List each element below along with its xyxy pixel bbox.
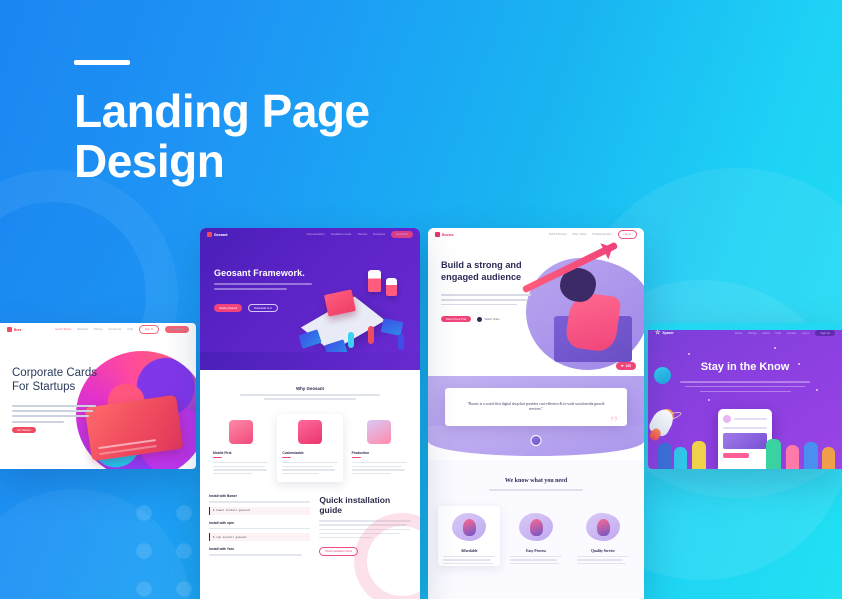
boosts-like-badge: ❤ 100 [616,362,636,370]
spacer-logo-label: Spacer [662,331,673,335]
text-line [209,501,310,502]
boosts-need-card-affordable[interactable]: Affordable [438,506,500,567]
quote-mark-open-icon: “ [454,390,462,409]
mockup-panel-brex[interactable]: Brex How It Works Rewards Pricing Contac… [0,323,196,469]
geosant-content-section: Why Geosant Mobile First [200,370,420,599]
boosts-need-card-easy-process[interactable]: Easy Process [505,506,567,567]
text-line [352,473,392,474]
text-line [443,556,495,557]
spacer-logo[interactable]: ☆ Spacer [655,330,674,336]
brex-signin-button[interactable]: Sign In [139,325,159,333]
brex-nav-item-2[interactable]: Pricing [94,328,102,331]
install-code-npm[interactable]: $ npm install geosant [209,533,310,541]
feature-rule [282,457,291,458]
boosts-needs-title: We know what you need [428,460,644,484]
text-line [213,466,265,467]
iso-person-c [398,334,404,350]
boosts-watch-video[interactable]: Watch Video [477,317,500,322]
geosant-headline: Geosant Framework. [214,268,334,278]
brex-nav-item-3[interactable]: Contact Us [108,328,121,331]
star-dot-icon [798,363,800,365]
person-figure [766,439,781,469]
brex-getstarted-button[interactable]: Get Started [165,326,189,332]
boosts-login-button[interactable]: Log In [618,230,637,238]
text-line [12,421,64,423]
text-line [282,469,335,470]
planet-icon [654,367,671,384]
person-figure [692,441,706,469]
boosts-hero: Boosts Tools & Pricing Who I Work Produc… [428,228,644,376]
boosts-body-copy [441,294,531,309]
geosant-nav-links: Documentation Installation Guide Themes … [307,231,413,237]
feature-title: Customizable [282,451,337,455]
star-dot-icon [688,353,690,355]
text-line [352,466,402,467]
text-line [12,410,93,412]
phone-header-row [723,415,767,423]
install-guide-title-line-1: Quick installation [319,495,390,505]
feature-rule [352,457,361,458]
text-line [443,559,491,560]
geosant-install-steps: Install with Bower $ bower install geosa… [209,494,310,559]
boosts-quote-text: "Boosts is a social-first digital shop t… [461,402,611,413]
boosts-needs-section: We know what you need Affordable Easy Pr… [428,460,644,599]
brex-headline-line-1: Corporate Cards [12,367,97,379]
text-line [282,473,319,474]
install-guide-title-line-2: guide [319,505,342,515]
text-line [214,283,312,285]
text-line [489,489,583,491]
spacer-headline: Stay in the Know [648,361,842,373]
spacer-nav-item-2[interactable]: About [762,332,769,335]
text-line [213,473,252,474]
rocket-icon [367,420,391,444]
text-line [12,415,89,417]
heart-icon: ❤ [621,364,624,368]
spacer-nav-links: Home Pricing About FAQ Contact Log in Si… [735,330,835,336]
mockup-panel-boosts[interactable]: Boosts Tools & Pricing Who I Work Produc… [428,228,644,599]
person-figure [658,443,672,469]
iso-person-a [348,332,354,348]
affordable-illustration-icon [452,513,486,541]
text-line [510,556,562,557]
spacer-nav-item-1[interactable]: Pricing [748,332,756,335]
feature-title: Mobile First [213,451,268,455]
boosts-watch-video-label: Watch Video [485,318,500,321]
boosts-cta-row: Start A Free Trial Watch Video [441,316,500,322]
brex-navbar: Brex How It Works Rewards Pricing Contac… [0,323,196,336]
text-line [577,559,623,560]
geosant-download-version-button[interactable]: Download v1.0 [248,304,278,312]
install-step-label: Install with npm [209,521,310,525]
spacer-signup-button[interactable]: Sign Up [815,330,835,336]
person-figure [804,442,818,469]
star-dot-icon [774,347,776,349]
install-step-note [209,554,310,555]
brex-nav-links: How It Works Rewards Pricing Contact Us … [55,325,189,333]
text-line [734,418,767,420]
spacer-nav-item-4[interactable]: Contact [787,332,796,335]
brex-logo-icon [7,327,12,332]
need-card-title: Easy Process [510,549,562,553]
text-line [12,405,96,407]
feature-rule [213,457,222,458]
star-dot-icon [816,389,818,391]
brex-headline-line-2: For Startups [12,381,75,393]
brex-body-copy [12,405,96,426]
page-title-line-1: Landing Page [74,85,370,137]
text-line [510,563,559,564]
text-line [700,391,791,393]
star-icon: ☆ [655,330,660,336]
boosts-need-card-quality-service[interactable]: Quality Service [572,506,634,567]
geosant-body-copy [214,283,312,293]
avatar [723,415,731,423]
iso-cylinder-b [386,278,397,296]
quote-mark-close-icon: ” [610,414,618,433]
geosant-hero: Geosant Documentation Installation Guide… [200,228,420,370]
feature-title: Production [352,451,407,455]
boosts-quote-card: “ "Boosts is a social-first digital shop… [445,388,627,426]
geosant-logo[interactable]: Geosant [207,232,228,237]
iso-person-b [368,326,374,344]
boosts-nav-item-1[interactable]: Who I Work [573,233,587,236]
brex-logo-label: Brex [14,328,22,332]
boosts-nav-item-2[interactable]: Product Service [593,233,612,236]
iso-cylinder-a [368,270,381,292]
geosant-nav-item-1[interactable]: Installation Guide [331,233,352,236]
boosts-headline-line-1: Build a strong and [441,260,522,270]
text-line [214,288,287,290]
text-line [680,381,810,383]
geosant-section-title: Why Geosant [200,386,420,391]
palette-icon [298,420,322,444]
brex-nav-item-0[interactable]: How It Works [55,328,71,331]
boosts-nav-item-0[interactable]: Tools & Pricing [549,233,567,236]
geosant-install-docs-button[interactable]: Read Installation Docs [319,547,358,556]
geosant-feature-row: Mobile First Customizable [200,414,420,483]
geosant-feature-card-mobile-first[interactable]: Mobile First [208,414,273,483]
brex-headline: Corporate Cards For Startups [12,367,108,394]
spacer-body-copy [680,381,810,395]
boosts-trial-button[interactable]: Start A Free Trial [441,316,471,322]
easy-process-illustration-icon [519,513,553,541]
brex-nav-item-4[interactable]: FAQ [127,328,132,331]
spacer-people-illustration [648,429,842,469]
boosts-needs-row: Affordable Easy Process Quality Service [428,506,644,567]
text-line [577,563,626,564]
text-line [282,466,333,467]
text-line [685,386,805,388]
boosts-needs-subtitle [476,489,596,491]
boosts-logo-icon [435,232,440,237]
text-line [213,462,268,463]
brex-cta-button[interactable]: Get Started [12,427,36,433]
geosant-feature-card-customizable[interactable]: Customizable [277,414,342,483]
mockup-panel-spacer[interactable]: ☆ Spacer Home Pricing About FAQ Contact … [648,323,842,469]
text-line [264,398,356,400]
poster-headline-block: Landing Page Design [74,60,370,186]
text-line [510,559,557,560]
page-title-line-2: Design [74,137,370,187]
page-title: Landing Page Design [74,87,370,186]
text-line [209,528,310,529]
spacer-nav-item-3[interactable]: FAQ [775,332,780,335]
brex-nav-item-1[interactable]: Rewards [77,328,88,331]
geosant-download-button[interactable]: Download [391,231,413,237]
person-figure [822,447,835,469]
spacer-hero: ☆ Spacer Home Pricing About FAQ Contact … [648,323,842,469]
text-line [352,462,407,463]
text-line [441,299,527,301]
geosant-logo-icon [207,232,212,237]
person-figure [786,445,799,469]
play-icon [477,317,482,322]
text-line [441,294,531,296]
boosts-quote-avatar [531,435,542,446]
spacer-nav-item-0[interactable]: Home [735,332,742,335]
mockup-panel-geosant[interactable]: Geosant Documentation Installation Guide… [200,228,420,599]
text-line [213,469,267,470]
boosts-like-count: 100 [626,364,631,368]
install-code-bower[interactable]: $ bower install geosant [209,507,310,515]
boosts-headline-line-2: engaged audience [441,272,521,282]
install-step-note [209,501,310,502]
text-line [209,554,302,555]
text-line [443,563,493,564]
need-card-title: Quality Service [577,549,629,553]
iso-screen-a [298,329,321,348]
text-line [240,394,380,396]
need-card-title: Affordable [443,549,495,553]
geosant-section-subtitle [240,394,380,400]
geosant-nav-item-2[interactable]: Themes [358,233,368,236]
boosts-headline: Build a strong and engaged audience [441,260,549,283]
geosant-nav-item-0[interactable]: Documentation [307,233,325,236]
text-line [282,462,337,463]
install-step-note [209,528,310,529]
geosant-logo-label: Geosant [214,233,228,237]
boosts-logo-label: Boosts [442,233,454,237]
star-dot-icon [708,399,710,401]
person-figure [674,447,687,469]
boosts-logo[interactable]: Boosts [435,232,454,237]
headline-rule [74,60,130,65]
geosant-getting-started-button[interactable]: Getting Started [214,304,242,312]
mobile-phone-icon [229,420,253,444]
geosant-nav-item-3[interactable]: Examples [373,233,385,236]
brex-logo[interactable]: Brex [7,327,22,332]
install-step-label: Install with Bower [209,494,310,498]
spacer-top-accent-bar [648,323,842,330]
install-step-label: Install with Yarn [209,547,310,551]
spacer-login-link[interactable]: Log in [802,332,809,335]
text-line [577,556,629,557]
text-line [441,304,517,306]
boosts-nav-links: Tools & Pricing Who I Work Product Servi… [549,230,637,238]
geosant-cta-row: Getting Started Download v1.0 [214,304,278,312]
geosant-navbar: Geosant Documentation Installation Guide… [200,228,420,241]
geosant-feature-card-production[interactable]: Production [347,414,412,483]
quality-service-illustration-icon [586,513,620,541]
text-line [352,469,405,470]
